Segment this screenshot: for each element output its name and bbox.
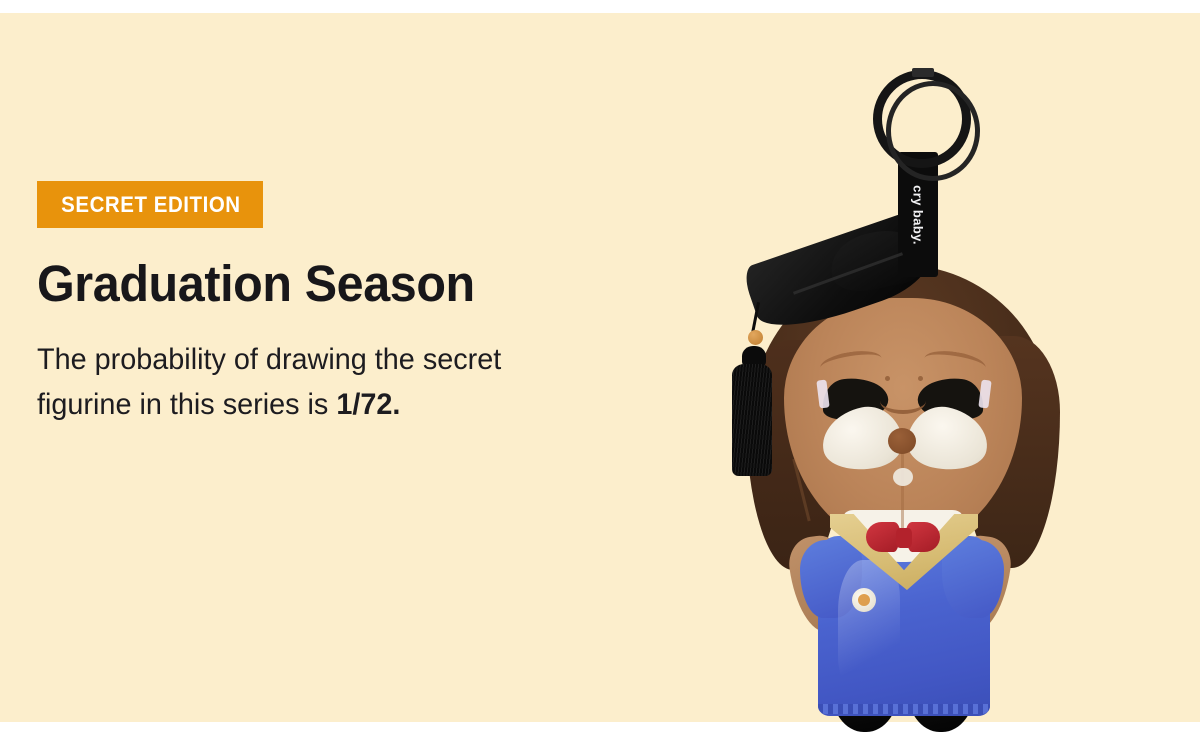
product-image: cry baby. <box>680 40 1120 720</box>
plush-frown <box>880 388 926 414</box>
page-title: Graduation Season <box>37 257 607 311</box>
gown-crest-badge <box>852 588 876 612</box>
keyring-clasp-icon <box>912 68 934 77</box>
copy-block: SECRET EDITION Graduation Season The pro… <box>37 181 637 427</box>
gown-hem-stitching <box>818 704 990 714</box>
bowtie-left-wing <box>866 522 900 552</box>
description-text: The probability of drawing the secret fi… <box>37 337 560 427</box>
gown-satin-highlight <box>838 560 900 690</box>
keyring-split-ring <box>873 70 971 168</box>
plush-nostril-left <box>885 376 890 381</box>
status-badge: SECRET EDITION <box>37 181 263 228</box>
tassel-skirt <box>732 364 772 476</box>
plush-nostril-right <box>918 376 923 381</box>
bowtie-knot <box>896 528 912 548</box>
probability-value: 1/72. <box>336 388 400 421</box>
tassel-bead <box>748 330 763 345</box>
gown-sleeve-right <box>942 540 1004 618</box>
plush-mouth <box>893 468 913 486</box>
plush-nose <box>888 428 916 454</box>
description-line-1: The probability of drawing the <box>37 343 415 376</box>
brand-label: cry baby. <box>911 185 926 245</box>
promo-banner: SECRET EDITION Graduation Season The pro… <box>0 0 1200 752</box>
